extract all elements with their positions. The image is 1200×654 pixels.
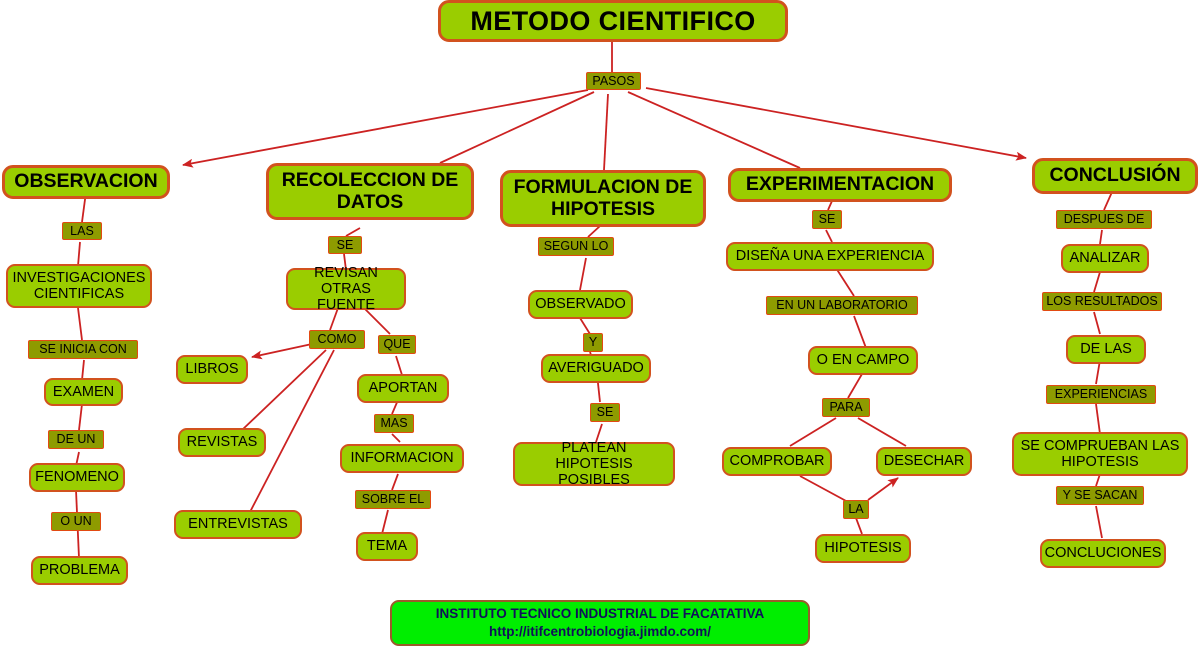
wire-pasos-experimentacion [628,92,800,168]
node-informacion[interactable]: INFORMACION [340,444,464,473]
node-desechar[interactable]: DESECHAR [876,447,972,476]
wire-form-1 [588,226,600,237]
node-o-en-campo[interactable]: O EN CAMPO [808,346,918,375]
wire-con-4 [1094,312,1100,334]
link-label-o-un[interactable]: O UN [51,512,101,531]
link-label-mas[interactable]: MAS [374,414,414,433]
link-label-y-se-sacan[interactable]: Y SE SACAN [1056,486,1144,505]
node-aportan[interactable]: APORTAN [357,374,449,403]
link-label-los-resultados[interactable]: LOS RESULTADOS [1042,292,1162,311]
wire-exp-5 [848,374,862,398]
wire-la-hipotesis [856,518,862,534]
wire-con-3 [1094,272,1100,292]
node-de-las[interactable]: DE LAS [1066,335,1146,364]
link-label-se-inicia-con[interactable]: SE INICIA CON [28,340,138,359]
wire-form-3 [580,318,590,334]
wire-mas-informacion [392,434,400,442]
wire-exp-4 [854,316,866,348]
link-label-en-un-laboratorio[interactable]: EN UN LABORATORIO [766,296,918,315]
node-hipotesis[interactable]: HIPOTESIS [815,534,911,563]
node-platean-hipotesis-posibles[interactable]: PLATEAN HIPOTESIS POSIBLES [513,442,675,486]
wire-comprobar-la [800,476,848,502]
wire-obs-5 [79,404,82,430]
wire-pasos-observacion [183,90,588,165]
node-conclusiones[interactable]: CONCLUCIONES [1040,539,1166,568]
node-revistas[interactable]: REVISTAS [178,428,266,457]
wire-que-aportan [396,356,402,375]
node-branch-conclusion[interactable]: CONCLUSIÓN [1032,158,1198,194]
link-label-sobre-el[interactable]: SOBRE EL [355,490,431,509]
wire-form-2 [580,258,586,290]
wire-informacion-sobreel [392,474,398,490]
link-label-segun-lo[interactable]: SEGUN LO [538,237,614,256]
node-tema[interactable]: TEMA [356,532,418,561]
footer-url: http://itifcentrobiologia.jimdo.com/ [489,623,711,641]
wire-para-comprobar [790,418,836,446]
wire-exp-3 [836,268,854,296]
concept-map-canvas: METODO CIENTIFICO PASOS OBSERVACION RECO… [0,0,1200,654]
wire-rec-1 [346,228,360,236]
wire-para-desechar [858,418,906,446]
node-examen[interactable]: EXAMEN [44,378,123,406]
link-label-experiencias[interactable]: EXPERIENCIAS [1046,385,1156,404]
wire-obs-3 [78,308,82,340]
node-disena-una-experiencia[interactable]: DISEÑA UNA EXPERIENCIA [726,242,934,271]
link-label-pasos[interactable]: PASOS [586,72,641,90]
node-entrevistas[interactable]: ENTREVISTAS [174,510,302,539]
node-problema[interactable]: PROBLEMA [31,556,128,585]
wire-con-2 [1100,230,1102,244]
link-label-despues-de[interactable]: DESPUES DE [1056,210,1152,229]
link-label-como[interactable]: COMO [309,330,365,349]
wire-obs-2 [78,242,80,266]
node-comprobar[interactable]: COMPROBAR [722,447,832,476]
node-observado[interactable]: OBSERVADO [528,290,633,319]
footer-institution: INSTITUTO TECNICO INDUSTRIAL DE FACATATI… [436,605,765,623]
link-label-las[interactable]: LAS [62,222,102,240]
wire-pasos-formulacion [604,94,608,170]
node-branch-recoleccion[interactable]: RECOLECCION DE DATOS [266,163,474,220]
link-label-de-un[interactable]: DE UN [48,430,104,449]
wire-sobreel-tema [382,510,388,534]
wire-pasos-conclusion [646,88,1026,158]
wire-como-libros [252,344,312,357]
wire-exp-2 [826,230,832,242]
node-revisan-otras-fuente[interactable]: REVISAN OTRAS FUENTE [286,268,406,310]
wire-con-1 [1104,192,1112,210]
wire-la-desechar [868,478,898,500]
link-label-para[interactable]: PARA [822,398,870,417]
link-label-se-formulacion[interactable]: SE [590,403,620,422]
node-branch-experimentacion[interactable]: EXPERIMENTACION [728,168,952,202]
node-branch-formulacion[interactable]: FORMULACION DE HIPOTESIS [500,170,706,227]
node-averiguado[interactable]: AVERIGUADO [541,354,651,383]
connector-layer [0,0,1200,654]
footer-banner[interactable]: INSTITUTO TECNICO INDUSTRIAL DE FACATATI… [390,600,810,646]
link-label-que[interactable]: QUE [378,335,416,354]
wire-obs-4 [82,360,84,380]
node-libros[interactable]: LIBROS [176,355,248,384]
link-label-se-recoleccion[interactable]: SE [328,236,362,254]
link-label-se-experimentacion[interactable]: SE [812,210,842,229]
node-title[interactable]: METODO CIENTIFICO [438,0,788,42]
link-label-y[interactable]: Y [583,333,603,352]
node-se-comprueban-las-hipotesis[interactable]: SE COMPRUEBAN LAS HIPOTESIS [1012,432,1188,476]
wire-con-6 [1096,404,1100,434]
wire-con-8 [1096,506,1102,538]
node-branch-observacion[interactable]: OBSERVACION [2,165,170,199]
link-label-la[interactable]: LA [843,500,869,519]
node-fenomeno[interactable]: FENOMENO [29,463,125,492]
node-analizar[interactable]: ANALIZAR [1061,244,1149,273]
node-investigaciones-cientificas[interactable]: INVESTIGACIONES CIENTIFICAS [6,264,152,308]
